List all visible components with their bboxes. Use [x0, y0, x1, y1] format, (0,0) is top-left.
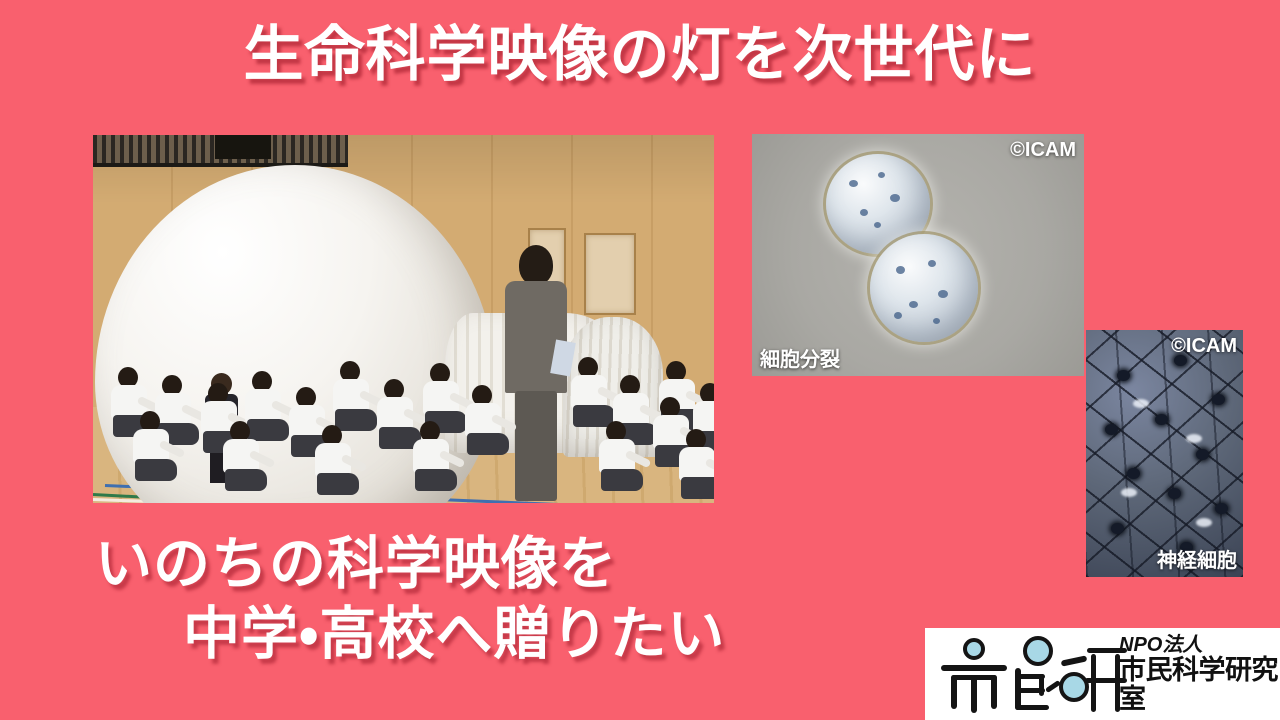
- micrograph-neurons: ©ICAM 神経細胞: [1086, 330, 1243, 577]
- gym-door: [584, 233, 636, 315]
- logo-wordmark: NPO法人 市民科学研究室: [1119, 635, 1280, 713]
- shiminken-logo-mark: [935, 634, 1117, 714]
- main-photo-planetarium-event: [93, 135, 714, 503]
- caption-cell-division: 細胞分裂: [760, 343, 840, 372]
- gym-balcony-railing: [93, 135, 348, 167]
- organization-logo-plate: NPO法人 市民科学研究室: [925, 628, 1280, 720]
- copyright-icam-label: ©ICAM: [1010, 139, 1076, 162]
- teacher-figure: [503, 245, 569, 503]
- presentation-slide: 生命科学映像の灯を次世代に: [0, 0, 1280, 720]
- slide-title: 生命科学映像の灯を次世代に: [0, 20, 1280, 89]
- dividing-cell-lower: [870, 234, 978, 342]
- organization-name: 市民科学研究室: [1119, 656, 1280, 713]
- micrograph-cell-division: ©ICAM 細胞分裂: [752, 134, 1084, 376]
- slide-subheadline: いのちの科学映像を 中学・高校へ贈りたい: [95, 530, 915, 669]
- subheadline-line-2: 中学・高校へ贈りたい: [95, 600, 915, 670]
- copyright-icam-label: ©ICAM: [1171, 335, 1237, 358]
- subheadline-line-1: いのちの科学映像を: [95, 532, 617, 596]
- caption-neurons: 神経細胞: [1157, 544, 1237, 573]
- npo-label: NPO法人: [1119, 635, 1280, 656]
- neuron-network: [1086, 330, 1243, 577]
